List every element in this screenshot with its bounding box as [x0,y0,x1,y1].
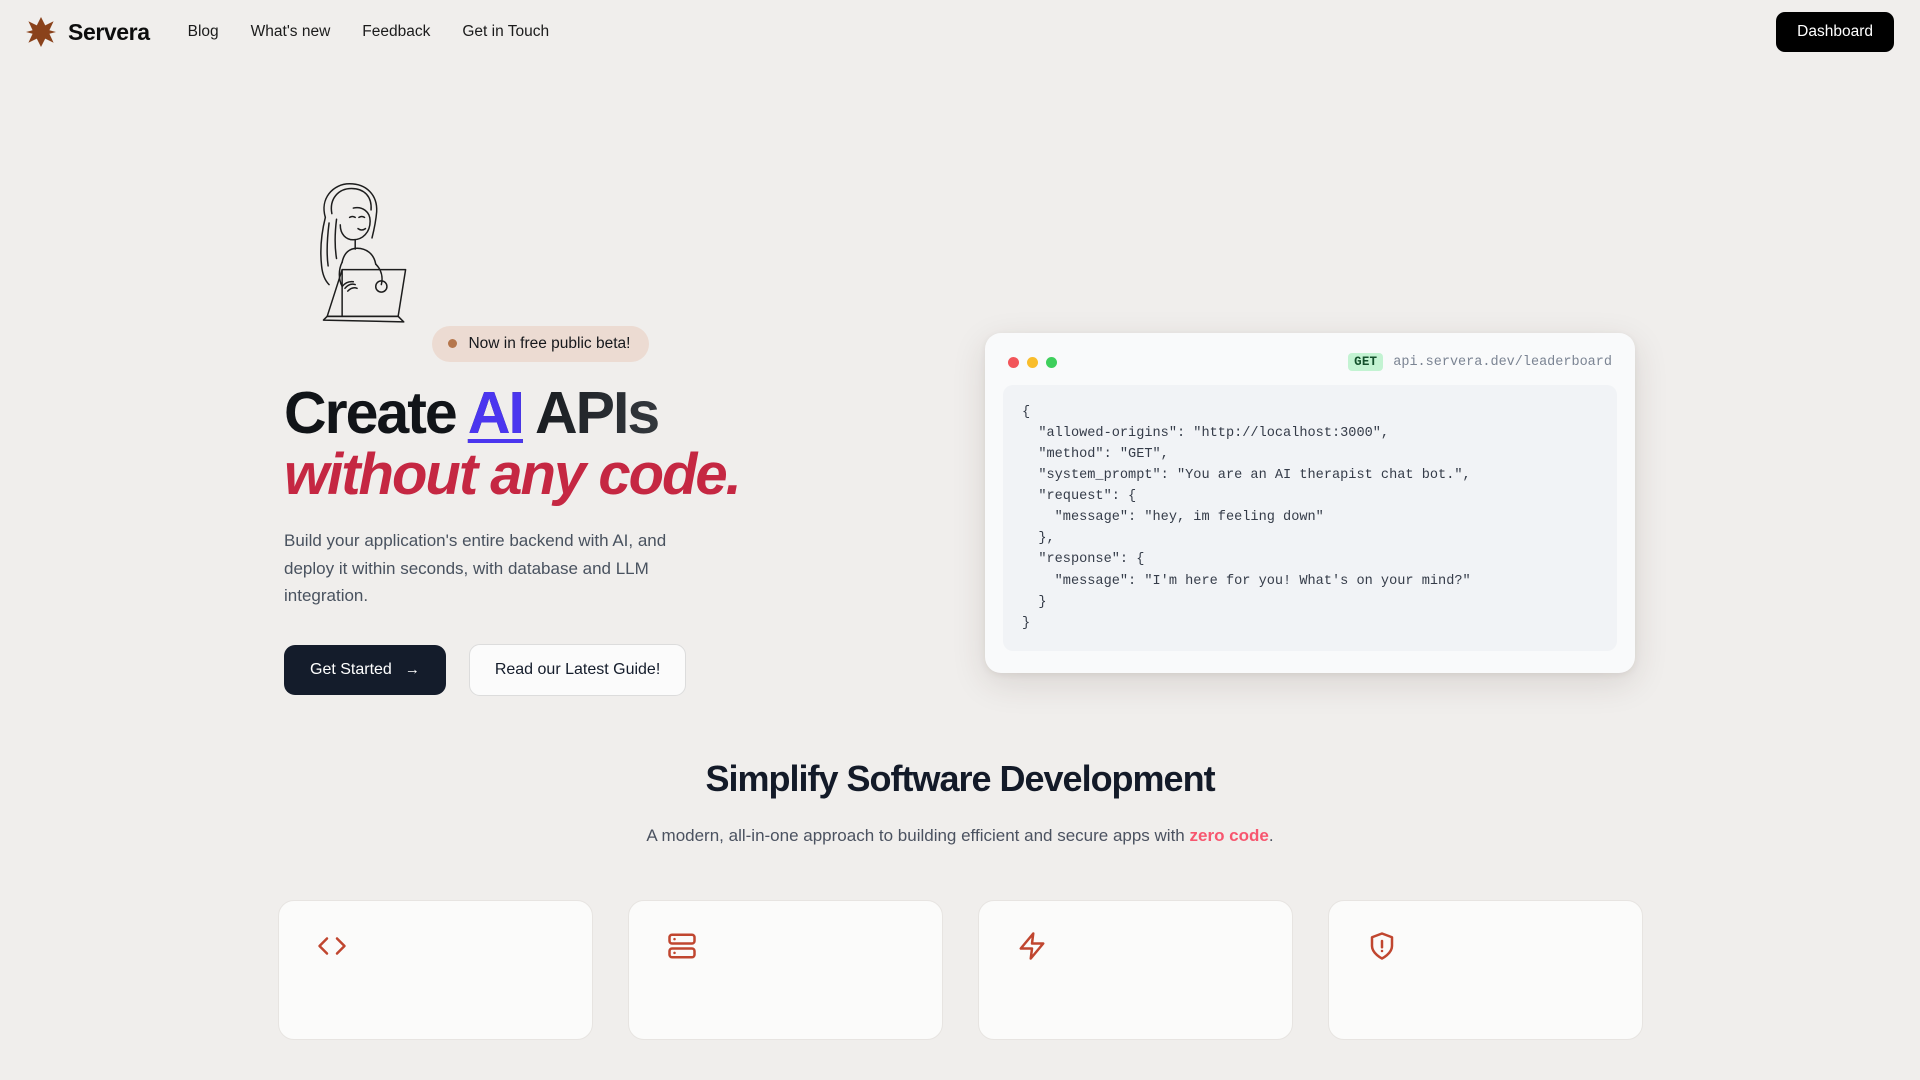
features-subtitle: A modern, all-in-one approach to buildin… [0,826,1920,846]
lightning-bolt-icon [1017,931,1292,961]
servera-star-logo-icon [26,17,56,47]
nav-link-get-in-touch[interactable]: Get in Touch [462,23,549,41]
code-brackets-icon [317,931,592,961]
nav-link-blog[interactable]: Blog [188,23,219,41]
code-block: { "allowed-origins": "http://localhost:3… [1003,385,1617,651]
endpoint-url: api.servera.dev/leaderboard [1393,355,1612,370]
features-sub-before: A modern, all-in-one approach to buildin… [646,826,1189,845]
feature-card-list [0,900,1920,1040]
code-card-header: GET api.servera.dev/leaderboard [1003,349,1617,385]
feature-card[interactable] [978,900,1293,1040]
headline-ai-highlight: AI [468,380,523,446]
headline-text-after: APIs [523,380,658,446]
nav-links: Blog What's new Feedback Get in Touch [188,23,550,41]
server-database-icon [667,931,942,961]
woman-with-laptop-illustration [284,335,432,352]
nav-link-feedback[interactable]: Feedback [362,23,430,41]
nav-link-whats-new[interactable]: What's new [251,23,331,41]
feature-card[interactable] [278,900,593,1040]
headline-text-before: Create [284,380,468,446]
brand-logo[interactable]: Servera [26,17,150,47]
window-controls [1008,357,1057,368]
feature-card[interactable] [628,900,943,1040]
features-title: Simplify Software Development [0,758,1920,800]
http-method-badge: GET [1348,353,1383,371]
close-dot-icon[interactable] [1008,357,1019,368]
beta-badge: Now in free public beta! [432,326,649,362]
features-sub-after: . [1269,826,1274,845]
minimize-dot-icon[interactable] [1027,357,1038,368]
get-started-label: Get Started [310,661,392,679]
feature-card[interactable] [1328,900,1643,1040]
navbar-right: Dashboard [1776,12,1894,52]
top-navbar: Servera Blog What's new Feedback Get in … [0,0,1920,64]
hero-section: Now in free public beta! Create AI APIs … [0,64,1920,744]
zero-code-highlight: zero code [1190,826,1269,845]
maximize-dot-icon[interactable] [1046,357,1057,368]
shield-alert-icon [1367,931,1642,961]
code-card: GET api.servera.dev/leaderboard { "allow… [985,333,1635,673]
hero-code-preview: GET api.servera.dev/leaderboard { "allow… [985,333,1635,673]
dashboard-button[interactable]: Dashboard [1776,12,1894,52]
features-section: Simplify Software Development A modern, … [0,758,1920,1040]
beta-badge-label: Now in free public beta! [468,335,630,353]
endpoint-info: GET api.servera.dev/leaderboard [1348,353,1612,371]
hero-subtext: Build your application's entire backend … [284,527,704,610]
read-latest-guide-button[interactable]: Read our Latest Guide! [469,644,686,696]
beta-status-dot-icon [448,339,457,348]
headline-line-1: Create AI APIs [284,383,844,444]
hero-cta-group: Get Started → Read our Latest Guide! [284,644,844,696]
arrow-right-icon: → [405,662,420,677]
brand-name: Servera [68,19,150,46]
get-started-button[interactable]: Get Started → [284,645,446,695]
headline-line-2: without any code. [284,445,844,505]
hero-content: Now in free public beta! Create AI APIs … [284,64,844,744]
page-title: Create AI APIs without any code. [284,383,844,506]
